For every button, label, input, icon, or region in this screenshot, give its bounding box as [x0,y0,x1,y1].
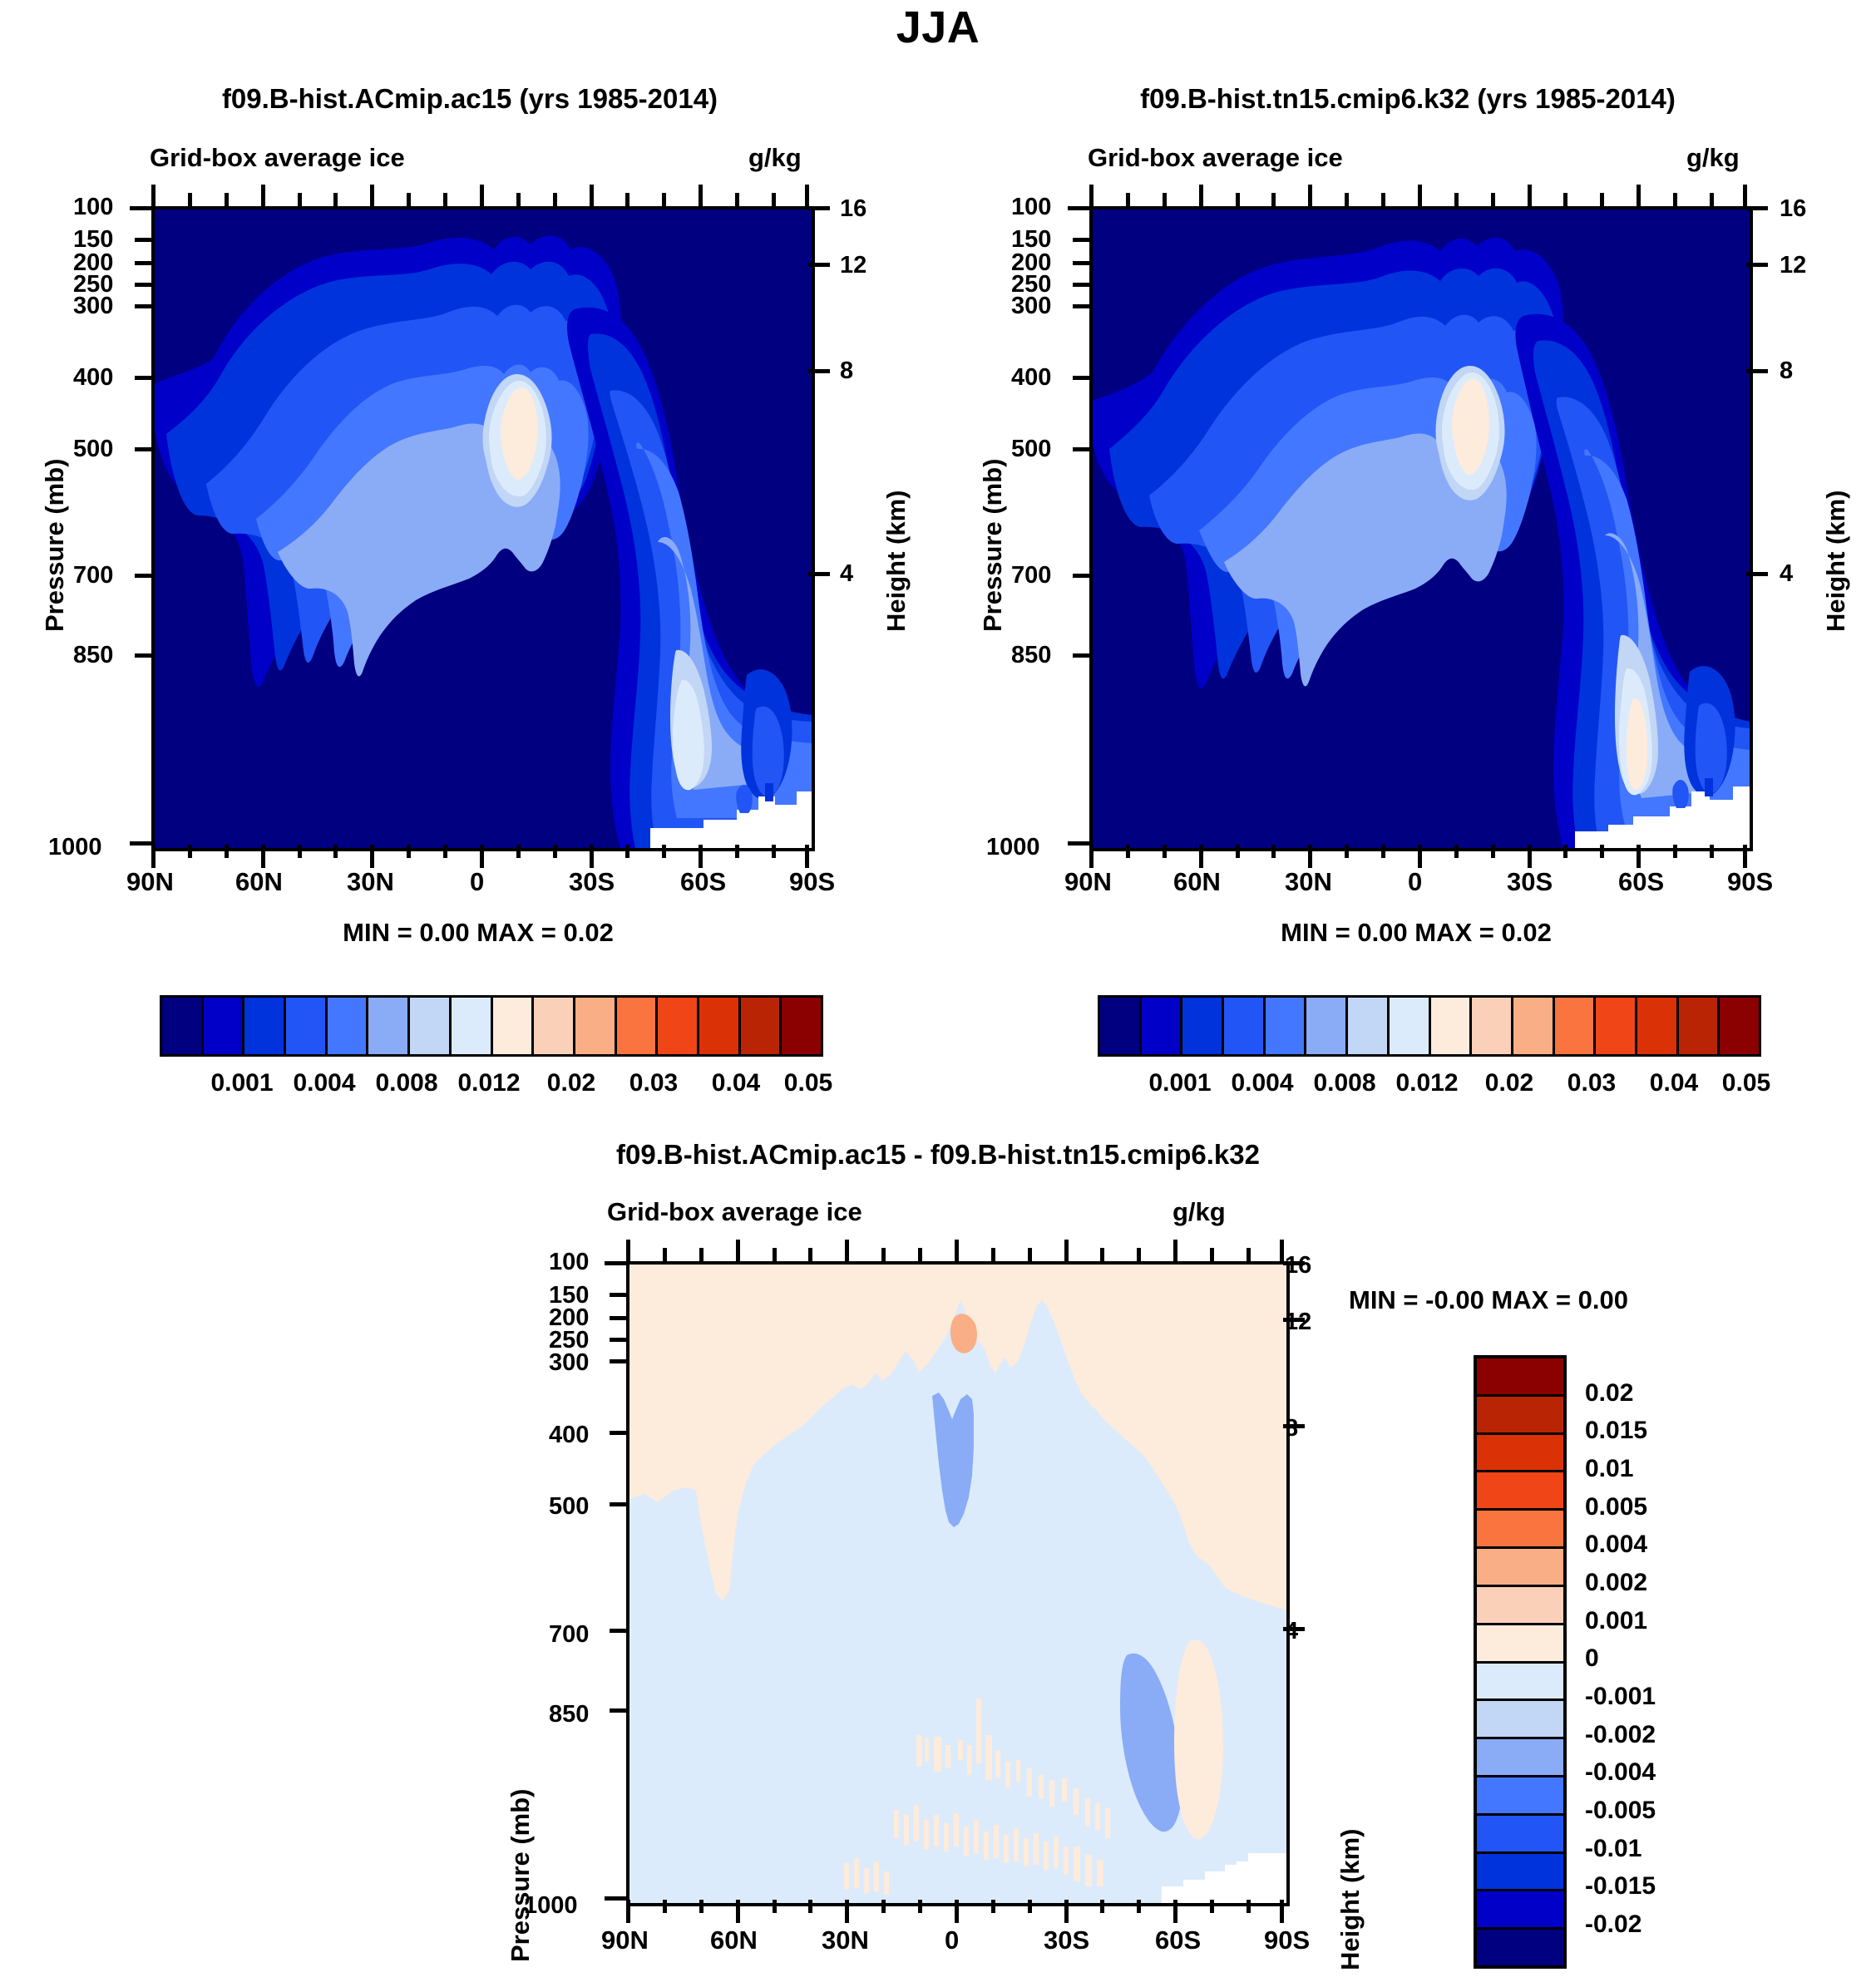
colorbar-label: 0.02 [1585,1379,1633,1408]
panel-diff-ytick-400: 400 [549,1422,589,1449]
panel-a: f09.B-hist.ACmip.ac15 (yrs 1985-2014) Gr… [0,0,938,1114]
colorbar-label: 0.004 [1231,1069,1293,1097]
panel-b-units-label: g/kg [1686,143,1740,173]
panel-a-ytick-100: 100 [73,194,113,221]
panel-a-plot-area [151,206,815,851]
panel-diff-plot-area [626,1261,1290,1906]
colorbar-cell [162,998,204,1054]
panel-diff-xtick-30S: 30S [1044,1925,1089,1955]
colorbar-label: 0.008 [1313,1069,1375,1097]
colorbar-cell [1477,1435,1563,1473]
panel-diff-xtick-90N: 90N [601,1925,649,1955]
colorbar-label: 0.05 [1722,1069,1770,1097]
panel-diff-units-label: g/kg [1172,1197,1226,1227]
panel-b-ytick-300: 300 [1011,293,1051,320]
panel-b-xtick-90N: 90N [1064,867,1112,897]
panel-diff-xtick-60S: 60S [1155,1925,1201,1955]
colorbar-cell [1720,998,1759,1054]
colorbar-cell [1477,1816,1563,1854]
colorbar-cell [575,998,617,1054]
panel-b-ytick-400: 400 [1011,364,1051,392]
colorbar-cell [1348,998,1390,1054]
colorbar-cell [1477,1777,1563,1816]
colorbar-cell [658,998,699,1054]
colorbar-cell [1513,998,1555,1054]
colorbar-cell [1477,1358,1563,1397]
panel-b: f09.B-hist.tn15.cmip6.k32 (yrs 1985-2014… [938,0,1876,1114]
panel-diff-xtick-90S: 90S [1264,1925,1310,1955]
panel-diff-contour-field [629,1265,1286,1903]
colorbar-cell [1142,998,1183,1054]
colorbar-cell [1637,998,1679,1054]
colorbar-label: -0.02 [1585,1911,1641,1939]
colorbar-cell [1477,1625,1563,1664]
colorbar-cell [534,998,575,1054]
panel-b-y2tick-4: 4 [1780,560,1793,588]
colorbar-cell [410,998,452,1054]
panel-a-ytick-400: 400 [73,364,113,392]
panel-a-y2-axis-title: Height (km) [881,491,911,633]
colorbar-label: 0.02 [547,1069,595,1097]
colorbar-cell [1100,998,1142,1054]
panel-a-y2tick-12: 12 [840,252,866,279]
panel-diff-y2-axis-title: Height (km) [1335,1829,1365,1971]
panel-diff-xtick-30N: 30N [822,1925,869,1955]
colorbar-cell [244,998,286,1054]
panel-a-xtick-0: 0 [470,867,484,897]
panel-a-y2tick-16: 16 [840,195,866,223]
panel-a-ytick-1000: 1000 [48,834,102,861]
colorbar-cell [1477,1472,1563,1511]
colorbar-cell [1390,998,1431,1054]
panel-a-ytick-500: 500 [73,436,113,463]
colorbar-cell [1472,998,1513,1054]
panel-diff-minmax: MIN = -0.00 MAX = 0.00 [1349,1285,1628,1315]
panel-b-xtick-90S: 90S [1727,867,1773,897]
panel-diff-ytick-500: 500 [549,1493,589,1521]
colorbar-label: -0.015 [1585,1872,1656,1901]
panel-a-xtick-60N: 60N [235,867,283,897]
panel-b-ytick-1000: 1000 [986,834,1040,861]
panel-b-y-axis-title: Pressure (mb) [978,459,1008,632]
panel-b-xtick-30N: 30N [1285,867,1332,897]
panel-a-xtick-90N: 90N [126,867,174,897]
panel-b-y2tick-12: 12 [1780,252,1806,279]
colorbar-cell [204,998,245,1054]
colorbar-label: 0.012 [457,1069,520,1097]
panel-b-variable-label: Grid-box average ice [1088,143,1343,173]
panel-diff-ytick-700: 700 [549,1621,589,1649]
colorbar-cell [1431,998,1473,1054]
colorbar-label: 0.04 [712,1069,760,1097]
colorbar-cell [1679,998,1720,1054]
panel-a-contour-field [155,210,812,848]
colorbar-label: 0.015 [1585,1417,1647,1445]
colorbar-cell [286,998,328,1054]
panel-b-colorbar [1098,995,1761,1057]
panel-b-y2tick-16: 16 [1780,195,1806,223]
colorbar-label: 0.03 [1567,1069,1616,1097]
panel-b-ytick-850: 850 [1011,642,1051,669]
panel-a-ytick-850: 850 [73,642,113,669]
colorbar-label: 0.02 [1485,1069,1533,1097]
panel-b-y2tick-8: 8 [1780,357,1793,385]
panel-diff-colorbar [1474,1355,1567,1969]
colorbar-cell [1477,1701,1563,1739]
panel-a-y-axis-title: Pressure (mb) [40,459,70,632]
panel-diff-ytick-300: 300 [549,1349,589,1377]
colorbar-label: 0.002 [1585,1569,1647,1597]
panel-b-ytick-100: 100 [1011,194,1051,221]
panel-a-units-label: g/kg [748,143,802,173]
panel-a-minmax: MIN = 0.00 MAX = 0.02 [150,918,807,948]
colorbar-label: 0 [1585,1644,1599,1673]
colorbar-cell [699,998,741,1054]
panel-b-xtick-30S: 30S [1507,867,1553,897]
colorbar-cell [368,998,410,1054]
panel-a-xtick-30N: 30N [347,867,394,897]
panel-b-ytick-700: 700 [1011,562,1051,589]
colorbar-label: 0.004 [293,1069,355,1097]
panel-diff-ytick-100: 100 [549,1249,589,1276]
colorbar-label: 0.01 [1585,1455,1633,1483]
colorbar-label: 0.001 [1585,1607,1647,1635]
colorbar-cell [617,998,659,1054]
panel-diff-xtick-60N: 60N [710,1925,758,1955]
colorbar-label: 0.004 [1585,1531,1647,1559]
colorbar-label: 0.05 [784,1069,832,1097]
panel-b-title: f09.B-hist.tn15.cmip6.k32 (yrs 1985-2014… [971,83,1844,115]
panel-b-contour-field [1093,210,1750,848]
colorbar-cell [328,998,369,1054]
panel-a-ytick-300: 300 [73,293,113,320]
panel-a-variable-label: Grid-box average ice [150,143,405,173]
colorbar-cell [1477,1739,1563,1777]
panel-a-y2tick-8: 8 [840,357,853,385]
panel-a-xtick-30S: 30S [569,867,615,897]
colorbar-label: -0.01 [1585,1835,1641,1863]
panel-a-xtick-60S: 60S [680,867,726,897]
panel-diff-variable-label: Grid-box average ice [607,1197,862,1227]
panel-a-colorbar [160,995,823,1057]
colorbar-cell [1477,1664,1563,1702]
colorbar-cell [1477,1930,1563,1965]
panel-b-plot-area [1089,206,1753,851]
colorbar-cell [1182,998,1224,1054]
colorbar-cell [1477,1587,1563,1625]
colorbar-label: 0.008 [375,1069,437,1097]
panel-b-minmax: MIN = 0.00 MAX = 0.02 [1088,918,1745,948]
colorbar-label: 0.001 [210,1069,273,1097]
panel-diff-ytick-1000: 1000 [524,1892,578,1920]
colorbar-label: -0.001 [1585,1683,1656,1711]
panel-b-y2-axis-title: Height (km) [1821,491,1851,633]
colorbar-label: 0.005 [1585,1493,1647,1521]
colorbar-label: 0.012 [1395,1069,1458,1097]
colorbar-cell [1477,1397,1563,1435]
panel-b-xtick-60N: 60N [1173,867,1221,897]
colorbar-cell [1555,998,1597,1054]
panel-a-ytick-700: 700 [73,562,113,589]
colorbar-label: -0.004 [1585,1758,1656,1787]
colorbar-cell [452,998,493,1054]
colorbar-cell [493,998,535,1054]
panel-diff-xtick-0: 0 [945,1925,959,1955]
colorbar-label: 0.001 [1148,1069,1211,1097]
panel-a-y2tick-4: 4 [840,560,853,588]
panel-diff-title: f09.B-hist.ACmip.ac15 - f09.B-hist.tn15.… [439,1139,1437,1171]
panel-a-title: f09.B-hist.ACmip.ac15 (yrs 1985-2014) [50,83,890,115]
colorbar-label: 0.03 [629,1069,678,1097]
colorbar-label: -0.002 [1585,1721,1656,1749]
panel-a-xtick-90S: 90S [789,867,835,897]
colorbar-label: -0.005 [1585,1797,1656,1825]
colorbar-cell [1306,998,1348,1054]
colorbar-label: 0.04 [1650,1069,1698,1097]
panel-diff-y-axis-title: Pressure (mb) [506,1789,536,1962]
colorbar-cell [782,998,821,1054]
colorbar-cell [1477,1854,1563,1892]
colorbar-cell [1224,998,1266,1054]
colorbar-cell [1266,998,1307,1054]
panel-diff-ytick-850: 850 [549,1701,589,1728]
colorbar-cell [1477,1549,1563,1587]
panel-diff: f09.B-hist.ACmip.ac15 - f09.B-hist.tn15.… [0,1114,1876,1982]
colorbar-cell [1477,1891,1563,1930]
colorbar-cell [741,998,782,1054]
colorbar-cell [1477,1511,1563,1549]
colorbar-cell [1596,998,1637,1054]
panel-b-xtick-0: 0 [1408,867,1422,897]
panel-b-xtick-60S: 60S [1618,867,1664,897]
panel-b-ytick-500: 500 [1011,436,1051,463]
